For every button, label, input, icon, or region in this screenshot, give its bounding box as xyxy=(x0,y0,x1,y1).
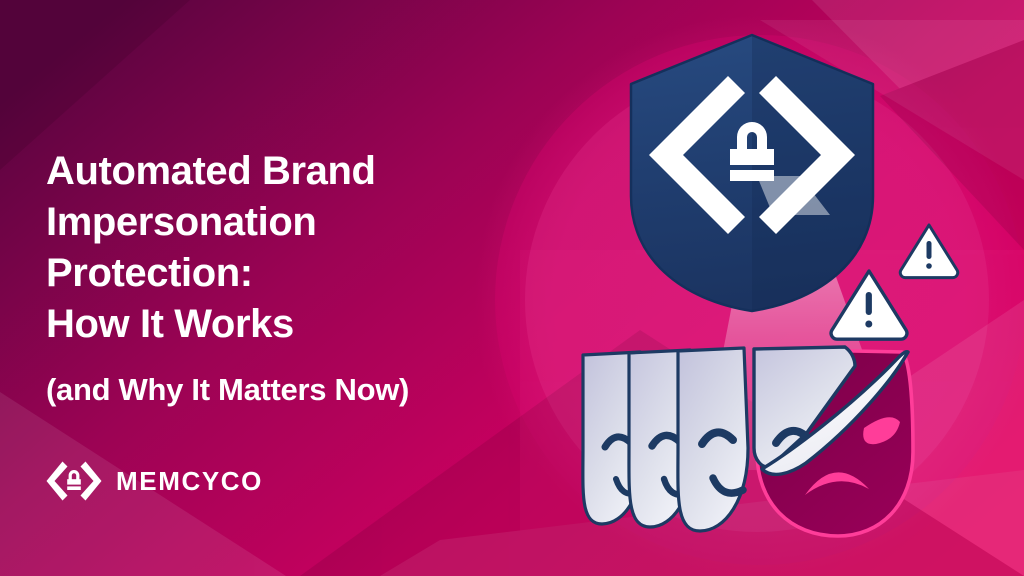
page-subtitle: (and Why It Matters Now) xyxy=(46,371,409,409)
page-title: Automated Brand Impersonation Protection… xyxy=(46,146,516,350)
headline-line-2: Impersonation xyxy=(46,197,516,248)
memcyco-lock-chevrons-icon xyxy=(46,458,102,504)
banner-root: Automated Brand Impersonation Protection… xyxy=(0,0,1024,576)
brand-logo[interactable]: MEMCYCO xyxy=(46,458,263,504)
content-layer: Automated Brand Impersonation Protection… xyxy=(0,0,1024,576)
headline-line-3: Protection: xyxy=(46,248,516,299)
logo-wordmark: MEMCYCO xyxy=(116,466,263,497)
headline-line-4: How It Works xyxy=(46,299,516,350)
headline-line-1: Automated Brand xyxy=(46,146,516,197)
